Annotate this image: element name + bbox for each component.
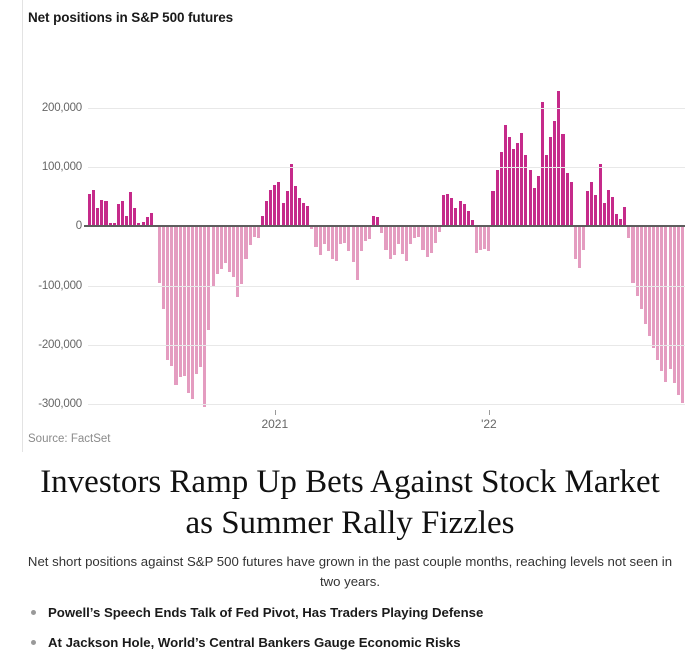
y-axis-tick-label: 0 bbox=[4, 220, 82, 232]
chart-bar bbox=[364, 226, 367, 241]
article-headline[interactable]: Investors Ramp Up Bets Against Stock Mar… bbox=[40, 462, 660, 544]
x-axis-tick-mark bbox=[275, 410, 276, 415]
chart-bar bbox=[331, 226, 334, 259]
chart-bar bbox=[356, 226, 359, 279]
chart-bar bbox=[607, 190, 610, 227]
chart-bar bbox=[302, 203, 305, 227]
chart-bar bbox=[627, 226, 630, 238]
chart-bar bbox=[500, 152, 503, 226]
chart-bar bbox=[529, 170, 532, 226]
chart-bar bbox=[290, 164, 293, 226]
chart-bar bbox=[475, 226, 478, 253]
chart-bar bbox=[405, 226, 408, 260]
gridline bbox=[88, 345, 685, 346]
chart-bar bbox=[561, 134, 564, 226]
chart-bar bbox=[224, 226, 227, 263]
chart-bar bbox=[265, 201, 268, 226]
chart-bar bbox=[339, 226, 342, 244]
chart-bar bbox=[207, 226, 210, 330]
chart-bar bbox=[487, 226, 490, 251]
chart-bar bbox=[491, 191, 494, 227]
x-axis-tick-label: 2021 bbox=[261, 417, 288, 431]
y-axis-labels: 200,000100,0000-100,000-200,000-300,000 bbox=[0, 84, 82, 410]
chart-bar bbox=[479, 226, 482, 250]
chart-bar bbox=[524, 155, 527, 226]
chart-bar bbox=[516, 143, 519, 226]
chart-bar bbox=[615, 214, 618, 226]
chart-bar bbox=[249, 226, 252, 245]
chart-bar bbox=[236, 226, 239, 297]
chart-bar bbox=[220, 226, 223, 269]
plot-region bbox=[88, 84, 685, 410]
chart-bar bbox=[166, 226, 169, 359]
y-axis-tick-label: 200,000 bbox=[4, 102, 82, 114]
chart-bar bbox=[104, 201, 107, 226]
chart-bar bbox=[162, 226, 165, 309]
article-chart-card: Net positions in S&P 500 futures 200,000… bbox=[0, 0, 700, 667]
chart-bar bbox=[323, 226, 326, 244]
related-link-item[interactable]: Powell’s Speech Ends Talk of Fed Pivot, … bbox=[26, 604, 676, 621]
chart-bar bbox=[545, 155, 548, 226]
chart-bar bbox=[282, 203, 285, 227]
zero-axis-line bbox=[84, 225, 685, 227]
chart-bar bbox=[129, 192, 132, 226]
gridline bbox=[88, 286, 685, 287]
chart-bar bbox=[574, 226, 577, 259]
chart-bar bbox=[553, 121, 556, 227]
chart-bar bbox=[360, 226, 363, 251]
x-axis-tick-mark bbox=[489, 410, 490, 415]
chart-bar bbox=[216, 226, 219, 273]
bar-series bbox=[88, 84, 685, 410]
chart-bar bbox=[426, 226, 429, 257]
chart-bar bbox=[257, 226, 260, 238]
chart-bar bbox=[520, 133, 523, 227]
chart-area: 200,000100,0000-100,000-200,000-300,000 … bbox=[0, 56, 700, 416]
related-link-label: Powell’s Speech Ends Talk of Fed Pivot, … bbox=[48, 605, 483, 620]
chart-bar bbox=[343, 226, 346, 243]
chart-bar bbox=[454, 208, 457, 226]
chart-bar bbox=[681, 226, 684, 403]
chart-bar bbox=[446, 194, 449, 227]
chart-bar bbox=[549, 137, 552, 226]
chart-bar bbox=[594, 195, 597, 226]
chart-bar bbox=[409, 226, 412, 244]
chart-bar bbox=[121, 201, 124, 226]
chart-bar bbox=[187, 226, 190, 393]
chart-bar bbox=[240, 226, 243, 284]
chart-bar bbox=[183, 226, 186, 375]
chart-bar bbox=[327, 226, 330, 251]
chart-bar bbox=[199, 226, 202, 367]
chart-bar bbox=[393, 226, 396, 254]
chart-bar bbox=[195, 226, 198, 374]
chart-bar bbox=[459, 201, 462, 226]
y-axis-tick-label: -100,000 bbox=[4, 280, 82, 292]
chart-bar bbox=[397, 226, 400, 244]
chart-bar bbox=[269, 190, 272, 227]
chart-bar bbox=[273, 185, 276, 226]
chart-bar bbox=[88, 194, 91, 227]
chart-bar bbox=[244, 226, 247, 259]
chart-bar bbox=[438, 226, 441, 232]
chart-bar bbox=[660, 226, 663, 371]
chart-bar bbox=[496, 170, 499, 226]
chart-bar bbox=[677, 226, 680, 395]
chart-bar bbox=[590, 182, 593, 226]
chart-source: Source: FactSet bbox=[28, 433, 110, 445]
chart-bar bbox=[294, 186, 297, 226]
chart-bar bbox=[150, 213, 153, 226]
y-axis-tick-label: 100,000 bbox=[4, 161, 82, 173]
chart-bar bbox=[508, 137, 511, 226]
chart-bar bbox=[463, 204, 466, 227]
chart-bar bbox=[286, 191, 289, 227]
chart-bar bbox=[277, 182, 280, 226]
chart-bar bbox=[537, 176, 540, 226]
chart-bar bbox=[533, 188, 536, 227]
chart-bar bbox=[401, 226, 404, 253]
chart-bar bbox=[631, 226, 634, 282]
chart-bar bbox=[578, 226, 581, 267]
chart-bar bbox=[611, 197, 614, 227]
chart-bar bbox=[450, 198, 453, 226]
chart-bar bbox=[434, 226, 437, 243]
chart-bar bbox=[306, 206, 309, 227]
chart-bar bbox=[191, 226, 194, 399]
chart-bar bbox=[96, 208, 99, 226]
chart-bar bbox=[512, 149, 515, 226]
related-links-list: Powell’s Speech Ends Talk of Fed Pivot, … bbox=[26, 604, 676, 664]
chart-bar bbox=[232, 226, 235, 277]
chart-bar bbox=[203, 226, 206, 407]
chart-bar bbox=[133, 208, 136, 226]
chart-bar bbox=[603, 203, 606, 227]
y-axis-tick-label: -200,000 bbox=[4, 339, 82, 351]
chart-bar bbox=[314, 226, 317, 247]
chart-bar bbox=[467, 211, 470, 226]
chart-bar bbox=[384, 226, 387, 250]
chart-bar bbox=[253, 226, 256, 237]
chart-bar bbox=[335, 226, 338, 260]
chart-bar bbox=[673, 226, 676, 383]
gridline bbox=[88, 108, 685, 109]
bullet-dot-icon bbox=[31, 610, 36, 615]
chart-bar bbox=[319, 226, 322, 254]
related-link-label: At Jackson Hole, World’s Central Bankers… bbox=[48, 635, 461, 650]
x-axis-tick-label: '22 bbox=[481, 417, 497, 431]
chart-bar bbox=[389, 226, 392, 259]
chart-bar bbox=[570, 182, 573, 226]
chart-bar bbox=[179, 226, 182, 377]
chart-bar bbox=[640, 226, 643, 309]
chart-bar bbox=[417, 226, 420, 237]
chart-bar bbox=[504, 125, 507, 226]
chart-bar bbox=[117, 204, 120, 227]
chart-bar bbox=[599, 164, 602, 226]
chart-bar bbox=[566, 173, 569, 226]
x-axis-labels: 2021'22 bbox=[88, 410, 685, 440]
chart-bar bbox=[212, 226, 215, 285]
chart-bar bbox=[483, 226, 486, 249]
chart-bar bbox=[656, 226, 659, 359]
bullet-dot-icon bbox=[31, 640, 36, 645]
chart-bar bbox=[380, 226, 383, 233]
article-deck: Net short positions against S&P 500 futu… bbox=[26, 552, 674, 592]
chart-bar bbox=[158, 226, 161, 282]
chart-bar bbox=[298, 198, 301, 226]
chart-bar bbox=[648, 226, 651, 336]
chart-bar bbox=[541, 102, 544, 226]
chart-bar bbox=[557, 91, 560, 226]
gridline bbox=[88, 404, 685, 405]
chart-bar bbox=[442, 195, 445, 226]
chart-bar bbox=[664, 226, 667, 381]
chart-title: Net positions in S&P 500 futures bbox=[28, 10, 233, 25]
chart-bar bbox=[623, 207, 626, 226]
chart-bar bbox=[92, 190, 95, 227]
chart-bar bbox=[174, 226, 177, 385]
chart-bar bbox=[100, 200, 103, 227]
gridline bbox=[88, 167, 685, 168]
chart-bar bbox=[652, 226, 655, 348]
chart-bar bbox=[347, 226, 350, 251]
chart-bar bbox=[669, 226, 672, 368]
chart-bar bbox=[644, 226, 647, 324]
chart-bar bbox=[368, 226, 371, 239]
y-axis-tick-label: -300,000 bbox=[4, 398, 82, 410]
chart-bar bbox=[352, 226, 355, 262]
chart-bar bbox=[430, 226, 433, 253]
chart-bar bbox=[228, 226, 231, 272]
related-link-item[interactable]: At Jackson Hole, World’s Central Bankers… bbox=[26, 634, 676, 651]
chart-bar bbox=[413, 226, 416, 238]
chart-bar bbox=[582, 226, 585, 250]
chart-bar bbox=[421, 226, 424, 250]
chart-bar bbox=[586, 191, 589, 227]
